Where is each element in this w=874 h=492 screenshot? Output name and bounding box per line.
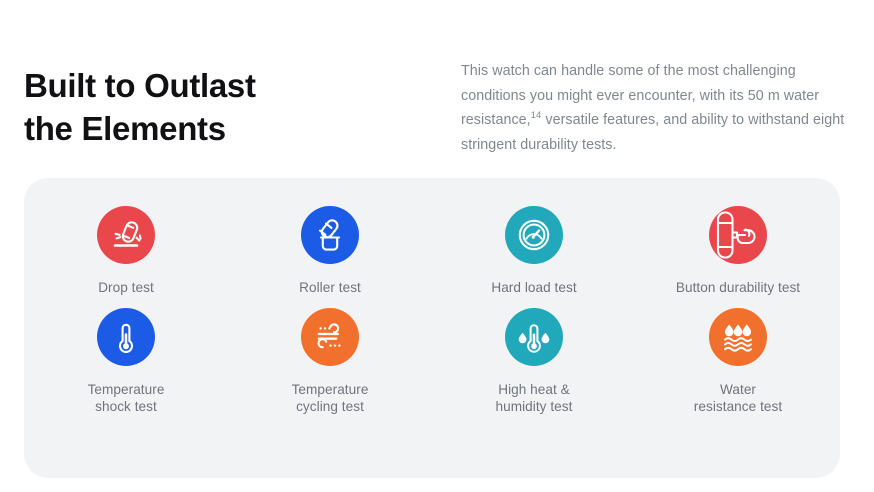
test-item-label: Temperature shock test (88, 381, 165, 415)
water-resistance-test-icon (718, 317, 758, 357)
durability-tests-panel: Drop test Roller test (24, 178, 840, 478)
intro-paragraph: This watch can handle some of the most c… (461, 59, 851, 157)
hard-load-test-badge (505, 206, 563, 264)
intro-section: Built to Outlast the Elements This watch… (0, 0, 874, 176)
test-item-high-heat-humidity-test[interactable]: High heat & humidity test (432, 308, 636, 415)
button-durability-test-icon (709, 206, 767, 264)
test-item-hard-load-test[interactable]: Hard load test (432, 206, 636, 296)
roller-test-badge (301, 206, 359, 264)
temperature-cycling-test-badge (301, 308, 359, 366)
high-heat-humidity-test-icon (512, 317, 556, 357)
test-item-label: Water resistance test (694, 381, 782, 415)
test-item-roller-test[interactable]: Roller test (228, 206, 432, 296)
water-resistance-test-badge (709, 308, 767, 366)
test-item-label: High heat & humidity test (496, 381, 573, 415)
high-heat-humidity-test-badge (505, 308, 563, 366)
test-item-temperature-cycling-test[interactable]: Temperature cycling test (228, 308, 432, 415)
temperature-cycling-test-icon (310, 317, 350, 357)
drop-test-icon (106, 215, 146, 255)
test-item-label: Roller test (299, 279, 361, 296)
hard-load-test-icon (514, 215, 554, 255)
drop-test-badge (97, 206, 155, 264)
temperature-shock-test-icon (106, 317, 146, 357)
test-item-temperature-shock-test[interactable]: Temperature shock test (24, 308, 228, 415)
test-item-button-durability-test[interactable]: Button durability test (636, 206, 840, 296)
test-item-label: Button durability test (676, 279, 800, 296)
durability-tests-grid: Drop test Roller test (24, 206, 840, 415)
test-item-drop-test[interactable]: Drop test (24, 206, 228, 296)
test-item-water-resistance-test[interactable]: Water resistance test (636, 308, 840, 415)
button-durability-test-badge (709, 206, 767, 264)
footnote-marker: 14 (531, 111, 542, 122)
roller-test-icon (310, 215, 350, 255)
temperature-shock-test-badge (97, 308, 155, 366)
test-item-label: Drop test (98, 279, 154, 296)
page-title: Built to Outlast the Elements (24, 64, 424, 150)
test-item-label: Hard load test (491, 279, 576, 296)
test-item-label: Temperature cycling test (292, 381, 369, 415)
